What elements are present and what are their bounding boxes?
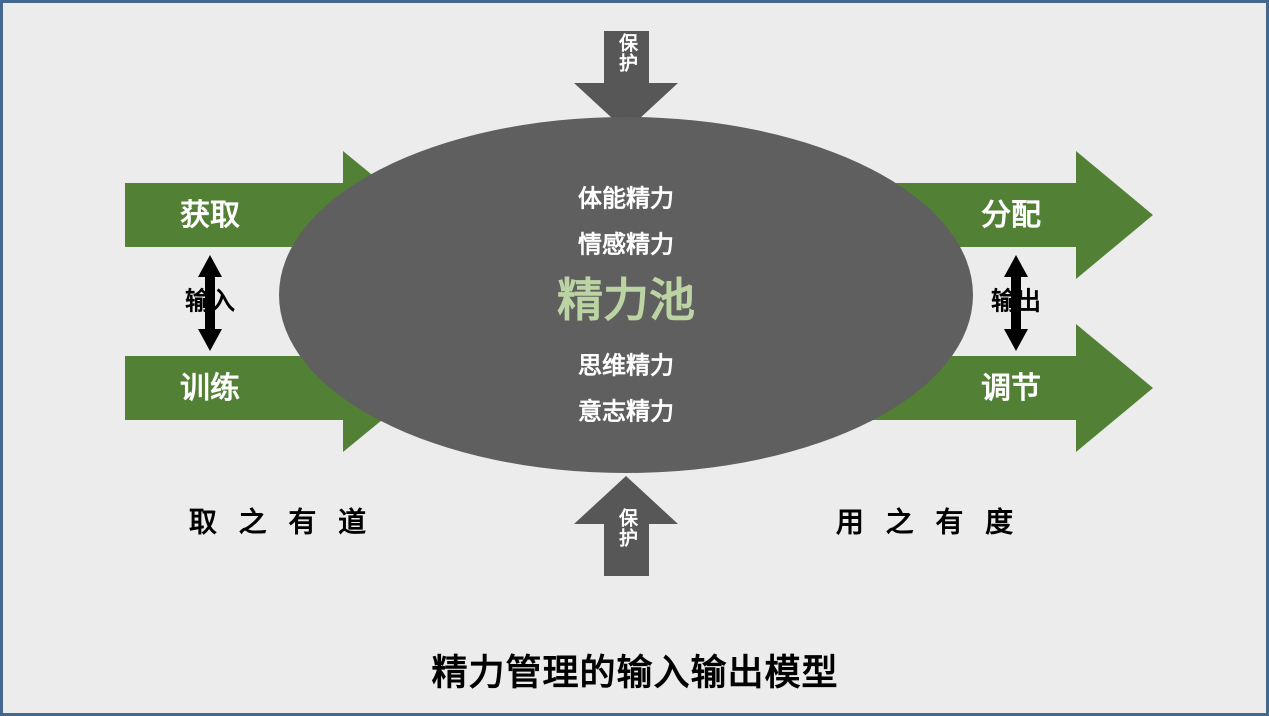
protect-arrow-bottom-label-line1: 保护 xyxy=(616,507,639,548)
output-arrow-allocate-label: 分配 xyxy=(981,199,1041,232)
pool-item-emotional: 情感精力 xyxy=(578,230,674,258)
output-indicator: 输出 xyxy=(991,255,1041,351)
pool-item-spiritual: 意志精力 xyxy=(578,397,674,425)
pool-item-mental: 思维精力 xyxy=(578,351,674,379)
output-arrow-adjust-label: 调节 xyxy=(981,372,1041,405)
input-label: 输入 xyxy=(185,287,235,316)
input-indicator: 输入 xyxy=(185,255,235,351)
caption-right: 用 之 有 度 xyxy=(836,505,1020,537)
protect-arrow-top-label-line1: 保护 xyxy=(616,32,639,73)
page-title: 精力管理的输入输出模型 xyxy=(431,652,838,693)
output-label: 输出 xyxy=(991,287,1041,316)
slide-canvas: 获取 训练 分配 调节 保护 保护 体能精力 xyxy=(0,0,1269,716)
energy-model-diagram: 获取 训练 分配 调节 保护 保护 体能精力 xyxy=(3,3,1269,716)
caption-left: 取 之 有 道 xyxy=(189,505,373,537)
protect-arrow-bottom[interactable]: 保护 xyxy=(574,476,678,576)
input-arrow-training-label: 训练 xyxy=(180,371,240,405)
protect-arrow-top[interactable]: 保护 xyxy=(574,31,678,131)
input-arrow-acquire-label: 获取 xyxy=(180,199,240,232)
pool-item-physical: 体能精力 xyxy=(578,184,674,212)
pool-title: 精力池 xyxy=(557,274,695,326)
